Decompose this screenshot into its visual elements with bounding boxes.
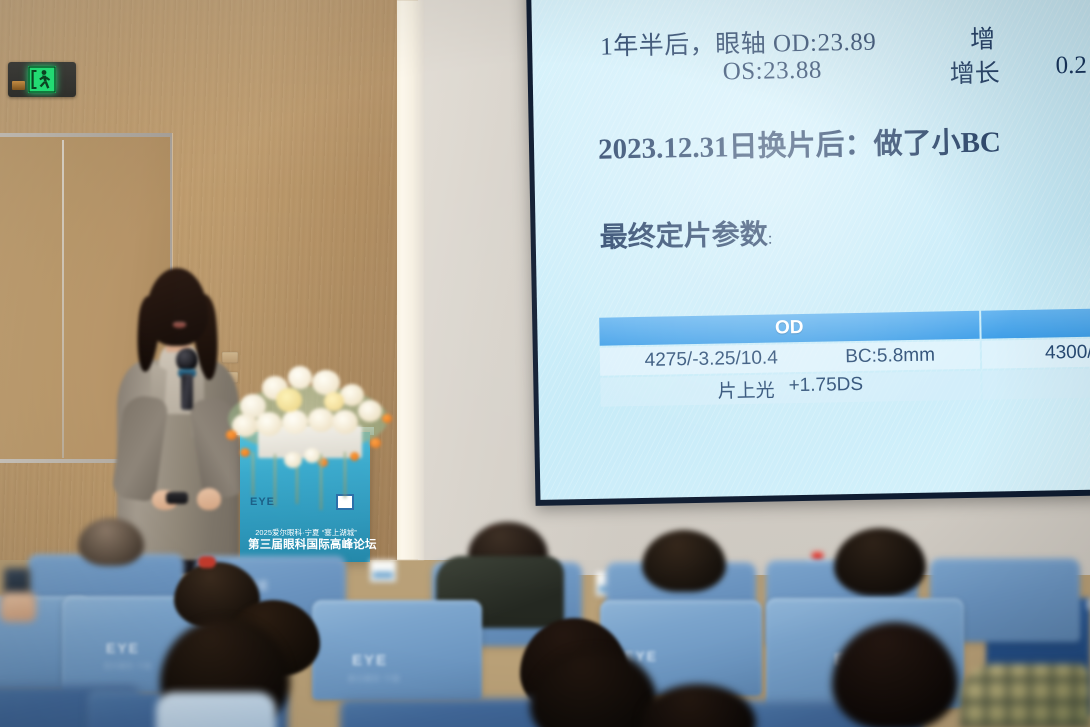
rose — [256, 412, 282, 436]
presentation-clicker[interactable] — [166, 492, 188, 504]
slide-growth-label-top: 增 — [970, 19, 996, 55]
slide-growth-value: 0.2 — [1055, 52, 1087, 81]
placard-graphic — [373, 572, 393, 578]
audience-shoulder — [156, 692, 276, 727]
audience-head — [78, 518, 144, 566]
flower-arrangement — [222, 352, 394, 488]
rose — [304, 448, 320, 463]
audience-plaid-jacket — [960, 664, 1090, 727]
conference-photo: 1年半后，眼轴 OD:23.89 OS:23.88 增 增长 0.2 2023.… — [0, 0, 1090, 727]
yellow-rose — [324, 392, 344, 411]
audience-head — [642, 530, 726, 592]
presentation-slide: 1年半后，眼轴 OD:23.89 OS:23.88 增 增长 0.2 2023.… — [531, 0, 1090, 500]
presenter-hair — [146, 268, 208, 346]
rose — [284, 452, 302, 468]
final-params-text: 最终定片参数 — [599, 220, 768, 254]
trailing-vine — [252, 452, 254, 496]
rose — [282, 410, 308, 434]
slide-line-refit-date: 2023.12.31日换片后：做了小BC — [598, 118, 1001, 167]
auditorium-seat[interactable] — [312, 600, 482, 700]
rose — [308, 408, 334, 432]
seat-sub-logo: 爱尔眼科·宁夏 — [348, 674, 401, 684]
microphone-handle[interactable] — [181, 374, 193, 410]
rose — [358, 400, 382, 422]
slide-final-params-heading: 最终定片参数: — [599, 213, 772, 256]
podium-eye-logo: EYE — [250, 496, 292, 508]
slide-content: 1年半后，眼轴 OD:23.89 OS:23.88 增 增长 0.2 2023.… — [531, 0, 1090, 500]
running-man-exit-icon — [28, 66, 56, 93]
rose — [288, 366, 312, 389]
hair-tie — [198, 556, 216, 568]
orange-bloom — [240, 448, 250, 457]
od-over-refraction-value: +1.75DS — [788, 374, 863, 402]
podium-title: 第三届眼科国际高峰论坛 — [248, 536, 364, 552]
table-header-os — [981, 308, 1090, 339]
door-split-line — [62, 140, 64, 458]
od-base-curve: BC:5.8mm — [845, 345, 935, 369]
table-cell-od-row2: 片上光 +1.75DS — [600, 371, 980, 407]
orange-bloom — [382, 414, 392, 423]
table-cell-os-row1: 4300/ — [981, 338, 1090, 369]
seat-eye-logo: EYE — [352, 652, 388, 669]
presenter-hand-right — [197, 488, 221, 510]
seat-sub-logo: 爱尔眼科·宁夏 — [104, 660, 152, 670]
yellow-rose — [298, 388, 320, 408]
table-cell-od-row1: 4275/-3.25/10.4 BC:5.8mm — [600, 341, 980, 376]
slide-line-axial-os: OS:23.88 — [722, 57, 822, 87]
trailing-vine — [274, 454, 276, 506]
trailing-vine — [344, 452, 346, 498]
final-params-colon: : — [768, 229, 773, 248]
exit-sign-indicator — [12, 81, 25, 90]
slide-line-axial-od: 1年半后，眼轴 OD:23.89 — [600, 22, 877, 63]
orange-bloom — [370, 438, 381, 448]
projection-screen: 1年半后，眼轴 OD:23.89 OS:23.88 增 增长 0.2 2023.… — [526, 0, 1090, 506]
audience-hand — [0, 592, 36, 622]
od-over-refraction-label: 片上光 — [717, 376, 775, 404]
orange-bloom — [350, 452, 359, 461]
exit-pictogram-svg — [28, 66, 56, 93]
presenter-mouth — [173, 322, 186, 328]
table-header-od: OD — [599, 311, 979, 346]
od-lens-spec: 4275/-3.25/10.4 — [644, 347, 778, 371]
trailing-vine — [320, 454, 322, 510]
seat-eye-logo: EYE — [1086, 596, 1090, 613]
slide-growth-label: 增长 — [949, 53, 1000, 90]
rose — [332, 410, 358, 434]
auditorium-seat[interactable] — [340, 698, 550, 727]
table-cell-os-row2 — [982, 368, 1090, 400]
name-placard — [370, 560, 396, 582]
emergency-exit-sign — [8, 62, 76, 97]
final-parameters-table: OD 4275/-3.25/10.4 BC:5.8mm 4300/ — [597, 305, 1090, 408]
orange-bloom — [226, 430, 237, 440]
seat-eye-logo: EYE — [106, 640, 140, 656]
